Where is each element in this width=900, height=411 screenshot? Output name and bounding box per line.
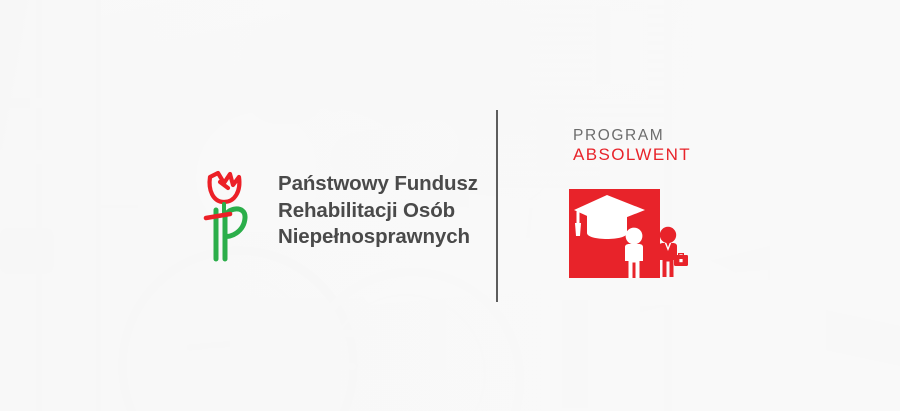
- pfron-name-line-3: Niepełnosprawnych: [278, 224, 478, 251]
- businessperson-with-briefcase-icon: [659, 227, 688, 277]
- pfron-name-line-1: Państwowy Fundusz: [278, 171, 478, 198]
- program-title-block: PROGRAM ABSOLWENT: [573, 127, 691, 165]
- tulip-logo-icon: [200, 160, 262, 262]
- pfron-name-line-2: Rehabilitacji Osób: [278, 198, 478, 225]
- program-label: PROGRAM: [573, 127, 691, 145]
- pfron-logo-lockup: Państwowy Fundusz Rehabilitacji Osób Nie…: [200, 160, 478, 262]
- program-name: ABSOLWENT: [573, 145, 691, 165]
- program-absolwent-emblem: [569, 189, 689, 281]
- pfron-name: Państwowy Fundusz Rehabilitacji Osób Nie…: [278, 171, 478, 251]
- pfron-absolwent-banner: Państwowy Fundusz Rehabilitacji Osób Nie…: [0, 0, 900, 411]
- vertical-divider: [496, 110, 498, 302]
